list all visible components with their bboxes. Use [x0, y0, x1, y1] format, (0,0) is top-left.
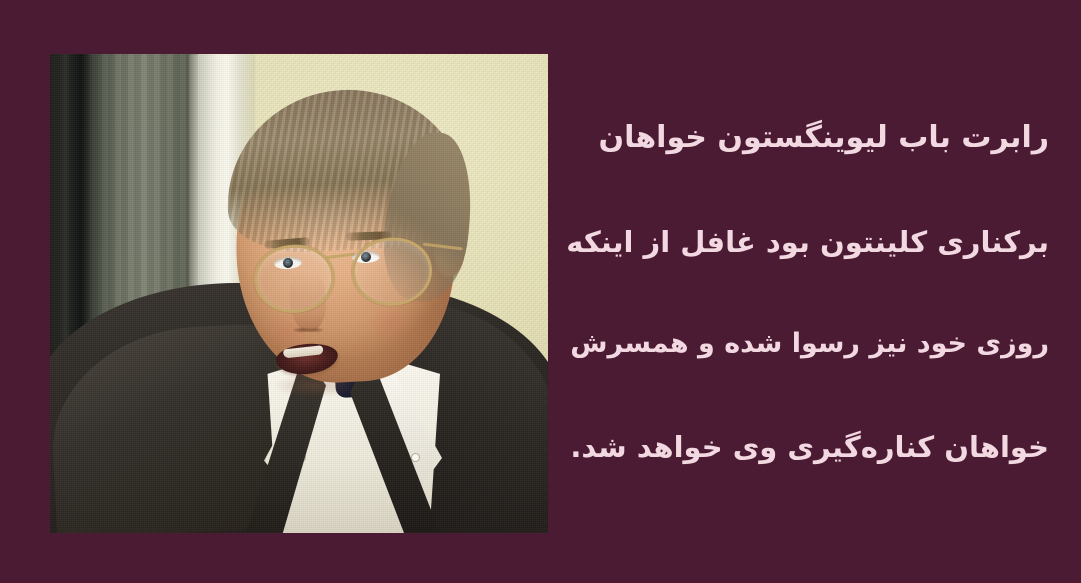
person-figure [50, 54, 548, 533]
quote-text-block: رابرت باب لیوینگستون خواهان برکناری کلین… [566, 122, 1049, 462]
nostrils [293, 326, 323, 334]
eyeglass-bridge [325, 253, 355, 260]
eyeglass-lens-left [253, 243, 336, 315]
collar-button-right [412, 454, 419, 461]
quote-card: رابرت باب لیوینگستون خواهان برکناری کلین… [0, 0, 1081, 583]
quote-line-1: رابرت باب لیوینگستون خواهان [566, 122, 1049, 154]
quote-line-3: روزی خود نیز رسوا شده و همسرش [566, 330, 1049, 358]
portrait-photo [50, 54, 548, 533]
quote-line-2: برکناری کلینتون بود غافل از اینکه [566, 227, 1049, 257]
photo-stage [50, 54, 548, 533]
chin-shadow [256, 372, 376, 406]
teeth [283, 345, 324, 358]
eyeglass-lens-right [350, 236, 433, 308]
eyeglasses [238, 234, 457, 311]
quote-line-4: خواهان کناره‌گیری وی خواهد شد. [566, 432, 1049, 462]
